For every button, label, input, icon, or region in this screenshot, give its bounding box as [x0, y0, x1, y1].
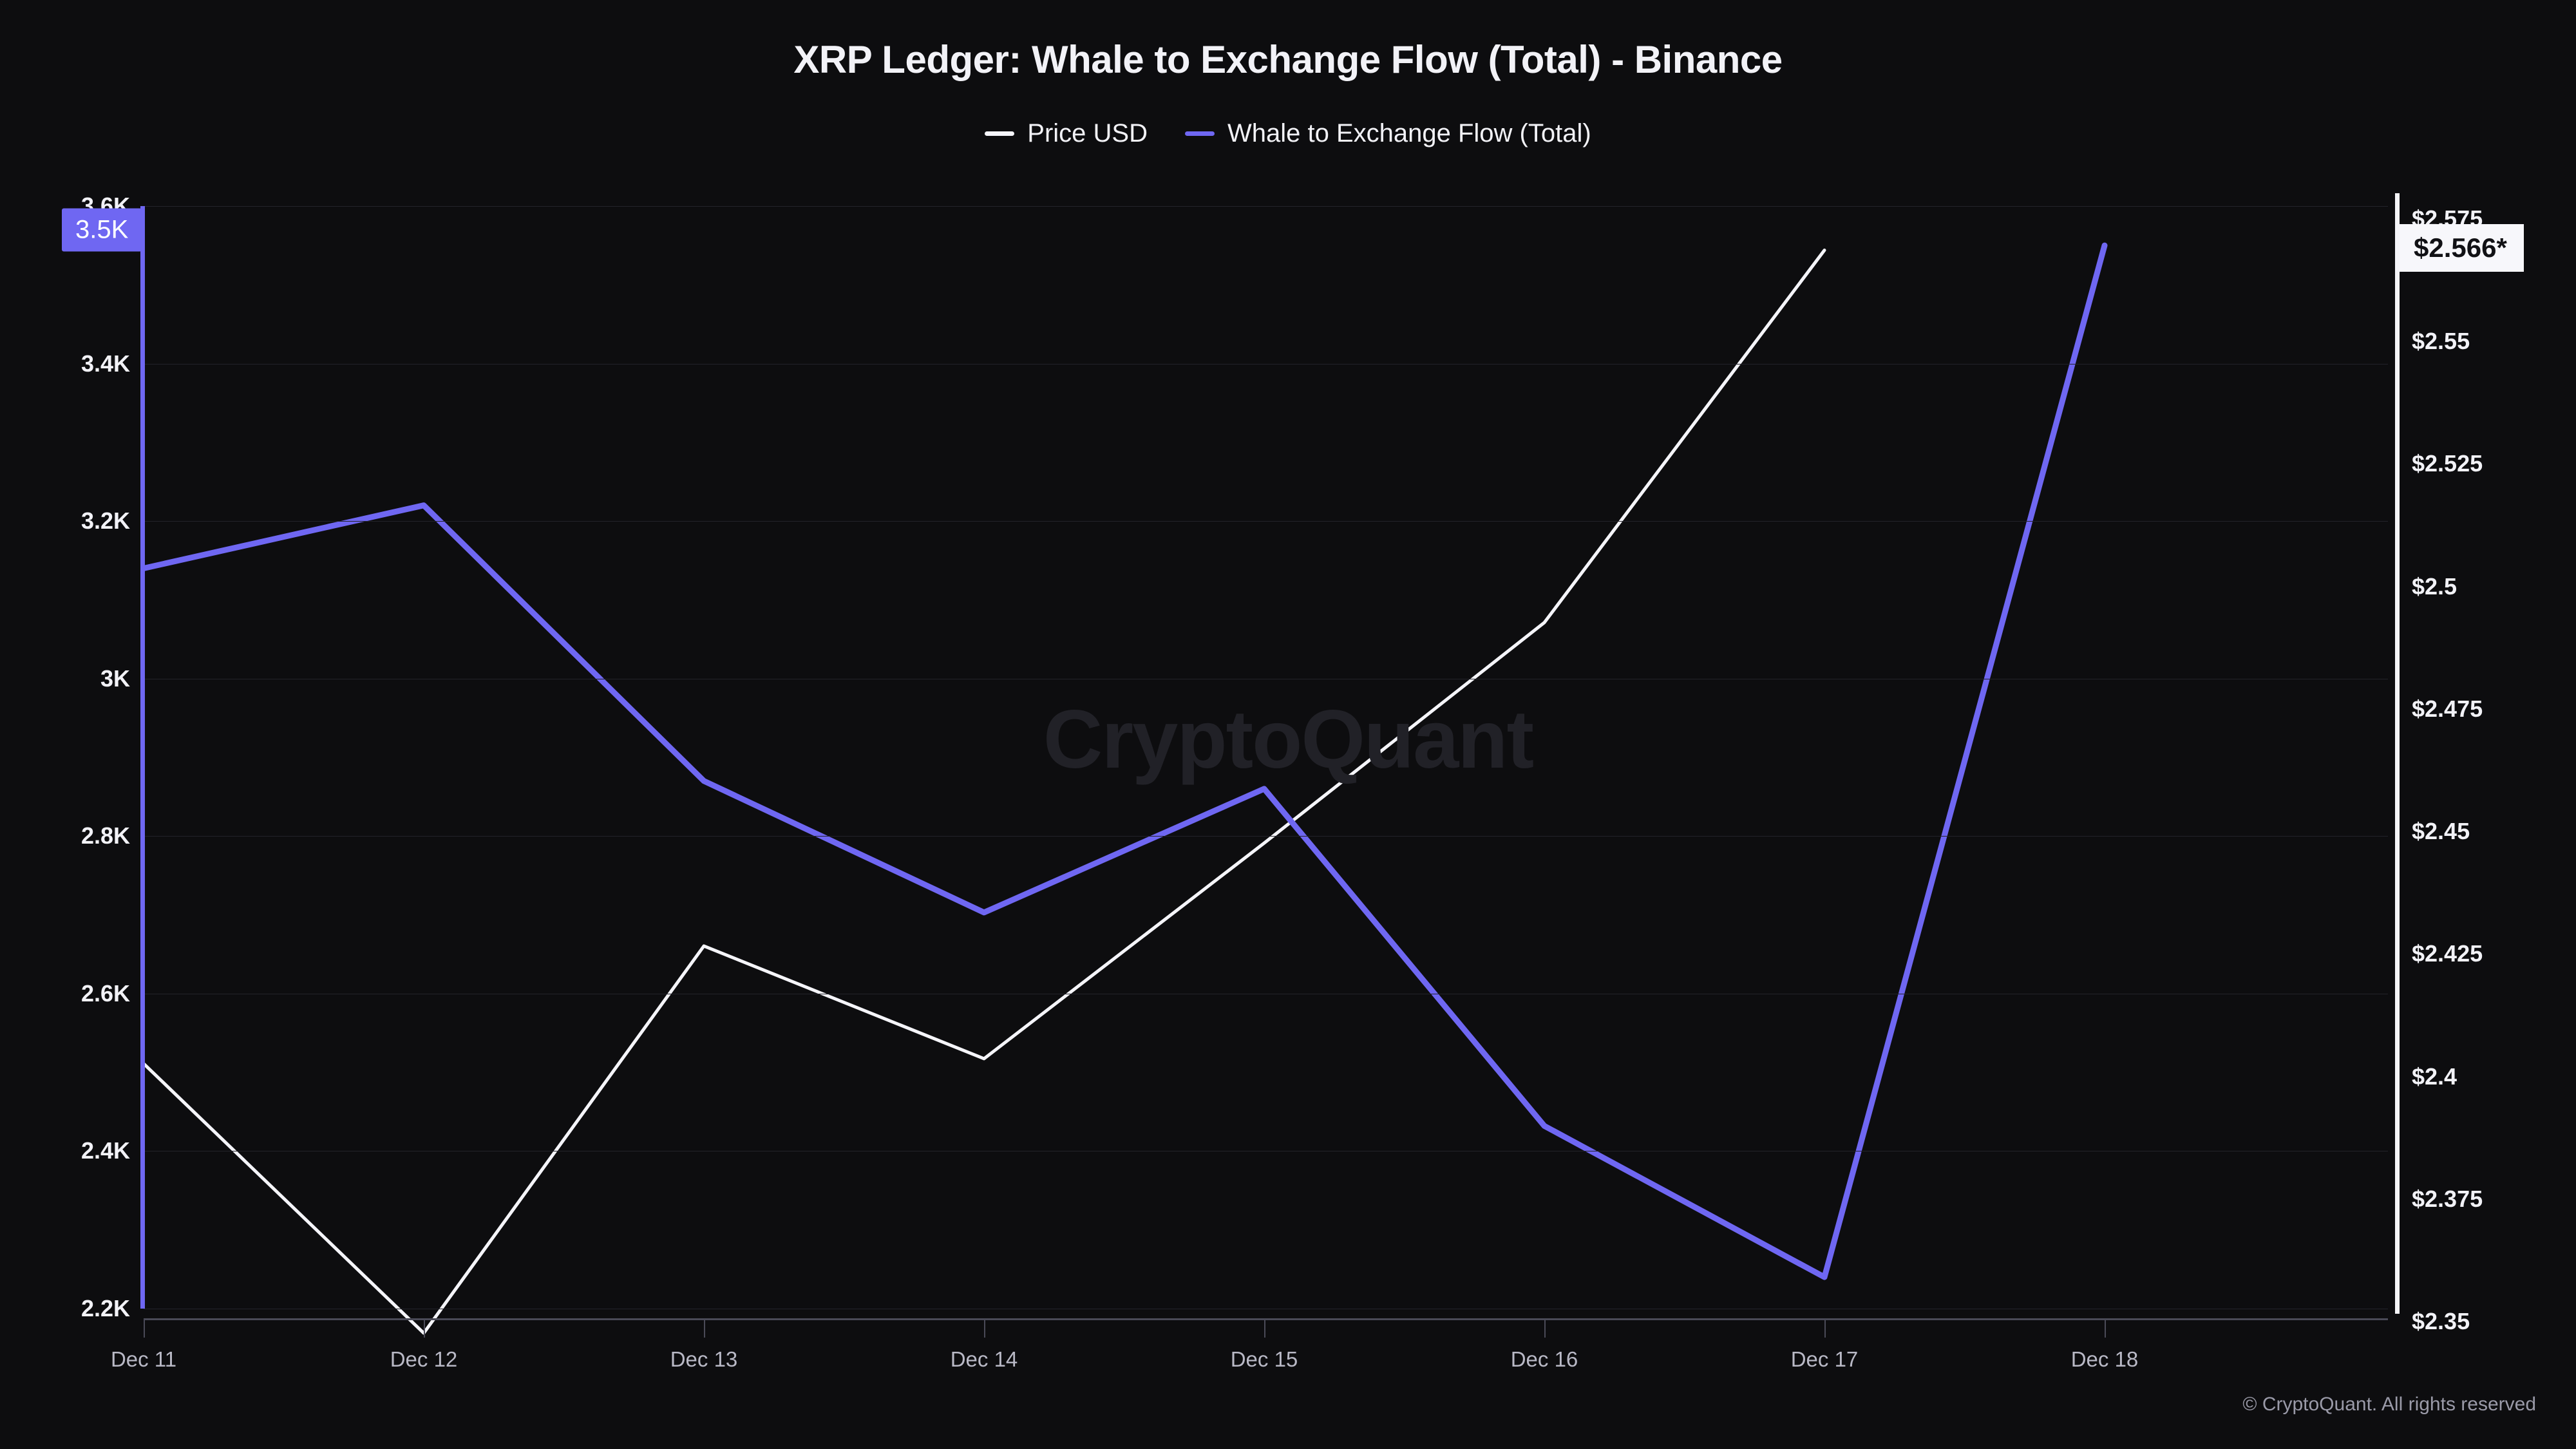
watermark: CryptoQuant	[0, 692, 2576, 787]
y-axis-left-tick-label: 3.4K	[81, 350, 130, 377]
x-axis-line	[144, 1318, 2388, 1320]
legend-item-price-usd[interactable]: Price USD	[985, 119, 1148, 148]
y-axis-left-tick-label: 2.8K	[81, 822, 130, 849]
legend-label-price-usd: Price USD	[1027, 119, 1148, 148]
y-axis-right-tick-label: $2.35	[2412, 1308, 2470, 1335]
y-axis-right-highlight-badge: $2.566*	[2400, 224, 2524, 272]
y-axis-left-tick-label: 2.2K	[81, 1295, 130, 1322]
x-axis-tick-label: Dec 18	[2071, 1347, 2139, 1372]
gridline	[144, 206, 2388, 207]
y-axis-left-tick-label: 3K	[100, 665, 130, 692]
y-axis-left-tick-label: 2.6K	[81, 980, 130, 1007]
x-axis-tick-label: Dec 17	[1791, 1347, 1859, 1372]
x-axis-tick-mark	[1264, 1320, 1265, 1338]
gridline	[144, 1151, 2388, 1151]
x-axis-tick-mark	[2105, 1320, 2106, 1338]
y-axis-right-tick-label: $2.375	[2412, 1186, 2483, 1213]
y-axis-right-tick-label: $2.525	[2412, 450, 2483, 477]
chart-container: XRP Ledger: Whale to Exchange Flow (Tota…	[0, 0, 2576, 1449]
x-axis-tick-label: Dec 15	[1231, 1347, 1298, 1372]
gridline	[144, 364, 2388, 365]
legend-label-whale-flow: Whale to Exchange Flow (Total)	[1227, 119, 1591, 148]
y-axis-right-tick-label: $2.55	[2412, 328, 2470, 355]
x-axis-tick-mark	[704, 1320, 705, 1338]
x-axis-tick-label: Dec 14	[951, 1347, 1018, 1372]
y-axis-right-tick-label: $2.45	[2412, 818, 2470, 845]
x-axis-tick-label: Dec 12	[390, 1347, 458, 1372]
legend-swatch-whale-flow	[1185, 131, 1215, 136]
chart-legend: Price USD Whale to Exchange Flow (Total)	[0, 119, 2576, 148]
x-axis-tick-mark	[1544, 1320, 1546, 1338]
legend-swatch-price-usd	[985, 131, 1014, 136]
y-axis-right-tick-label: $2.425	[2412, 940, 2483, 967]
y-axis-left-tick-label: 3.2K	[81, 507, 130, 535]
y-axis-left-highlight-badge: 3.5K	[62, 209, 142, 252]
x-axis-tick-mark	[1824, 1320, 1826, 1338]
legend-item-whale-flow[interactable]: Whale to Exchange Flow (Total)	[1185, 119, 1591, 148]
gridline	[144, 1309, 2388, 1309]
y-axis-right-tick-label: $2.4	[2412, 1063, 2457, 1090]
y-axis-left-tick-label: 2.4K	[81, 1137, 130, 1164]
x-axis-tick-mark	[144, 1320, 145, 1338]
gridline	[144, 836, 2388, 837]
gridline	[144, 994, 2388, 994]
copyright-footer: © CryptoQuant. All rights reserved	[2242, 1394, 2536, 1416]
x-axis-tick-label: Dec 11	[111, 1347, 176, 1372]
chart-title: XRP Ledger: Whale to Exchange Flow (Tota…	[0, 37, 2576, 82]
x-axis-tick-label: Dec 16	[1511, 1347, 1578, 1372]
gridline	[144, 679, 2388, 679]
y-axis-right-tick-label: $2.5	[2412, 573, 2457, 600]
x-axis-tick-mark	[984, 1320, 985, 1338]
x-axis-tick-mark	[424, 1320, 425, 1338]
x-axis-tick-label: Dec 13	[670, 1347, 738, 1372]
gridline	[144, 521, 2388, 522]
